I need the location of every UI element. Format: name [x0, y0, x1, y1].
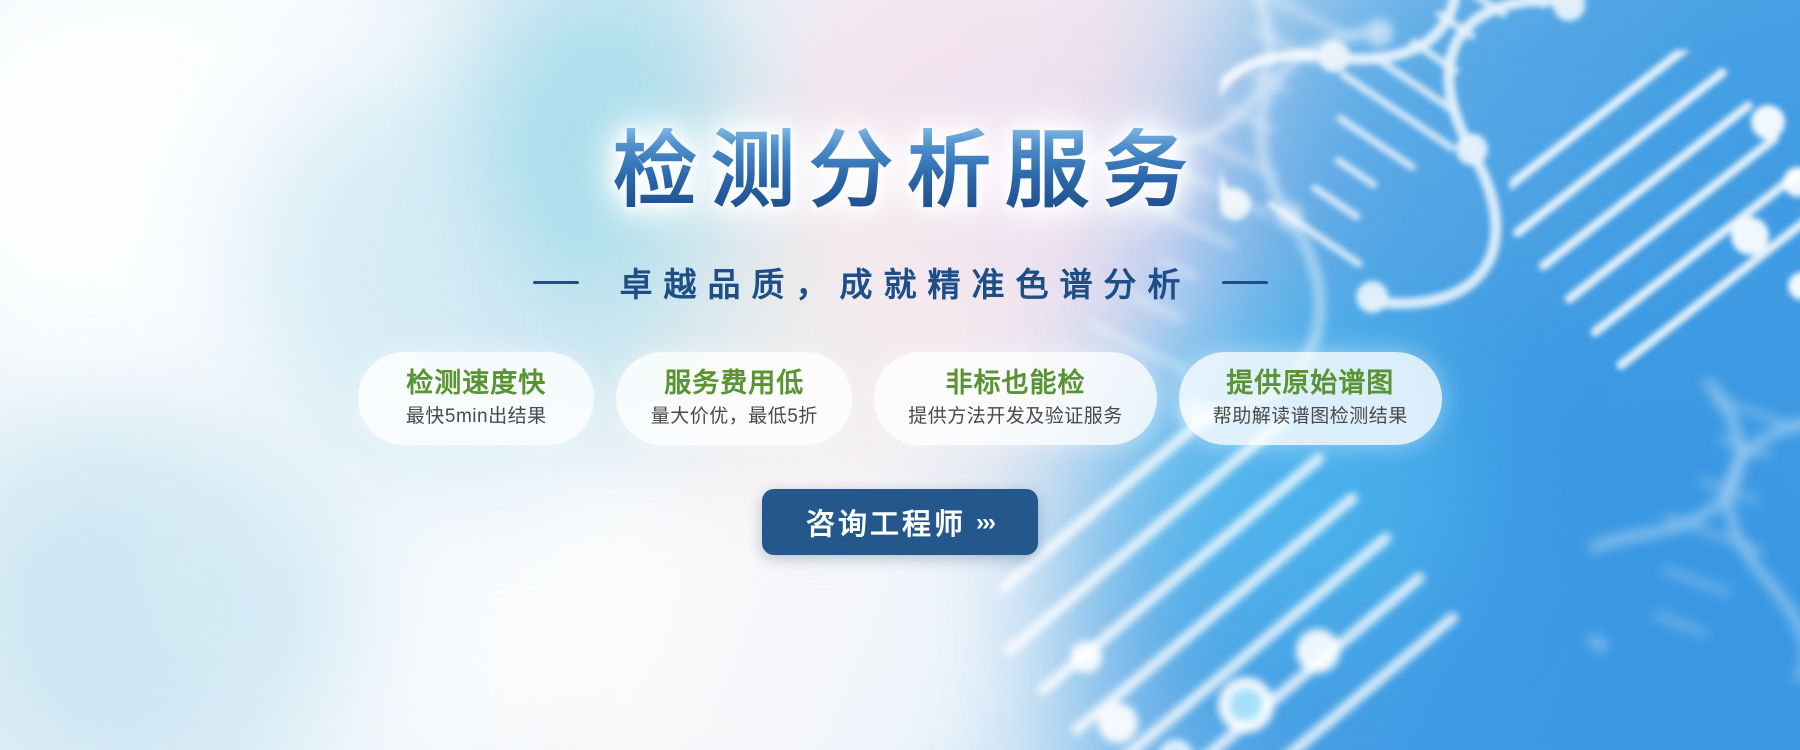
- feature-pill-subtitle: 量大价优，最低5折: [650, 404, 818, 430]
- detection-service-banner: 检测分析服务 卓越品质，成就精准色谱分析 检测速度快 最快5min出结果 服务费…: [0, 0, 1800, 750]
- feature-pill-title: 检测速度快: [392, 366, 560, 401]
- feature-pill-raw-spectra: 提供原始谱图 帮助解读谱图检测结果: [1179, 352, 1442, 445]
- feature-pill-list: 检测速度快 最快5min出结果 服务费用低 量大价优，最低5折 非标也能检 提供…: [358, 352, 1442, 445]
- feature-pill-nonstandard: 非标也能检 提供方法开发及验证服务: [874, 352, 1157, 445]
- feature-pill-price: 服务费用低 量大价优，最低5折: [616, 352, 852, 445]
- consult-engineer-button[interactable]: 咨询工程师 ›››: [762, 489, 1038, 555]
- subtitle-rule-right: [1222, 281, 1268, 284]
- feature-pill-subtitle: 最快5min出结果: [392, 404, 560, 430]
- subtitle-rule-left: [533, 281, 579, 284]
- feature-pill-title: 服务费用低: [650, 366, 818, 401]
- banner-content: 检测分析服务 卓越品质，成就精准色谱分析 检测速度快 最快5min出结果 服务费…: [0, 0, 1800, 750]
- feature-pill-title: 非标也能检: [908, 366, 1123, 401]
- feature-pill-title: 提供原始谱图: [1213, 366, 1408, 401]
- feature-pill-subtitle: 帮助解读谱图检测结果: [1213, 404, 1408, 430]
- consult-engineer-label: 咨询工程师: [806, 501, 966, 543]
- page-title: 检测分析服务: [599, 128, 1201, 212]
- feature-pill-speed: 检测速度快 最快5min出结果: [358, 352, 594, 445]
- page-subtitle: 卓越品质，成就精准色谱分析: [609, 258, 1192, 306]
- chevron-right-triple-icon: ›››: [976, 511, 994, 535]
- feature-pill-subtitle: 提供方法开发及验证服务: [908, 404, 1123, 430]
- subtitle-row: 卓越品质，成就精准色谱分析: [533, 258, 1268, 306]
